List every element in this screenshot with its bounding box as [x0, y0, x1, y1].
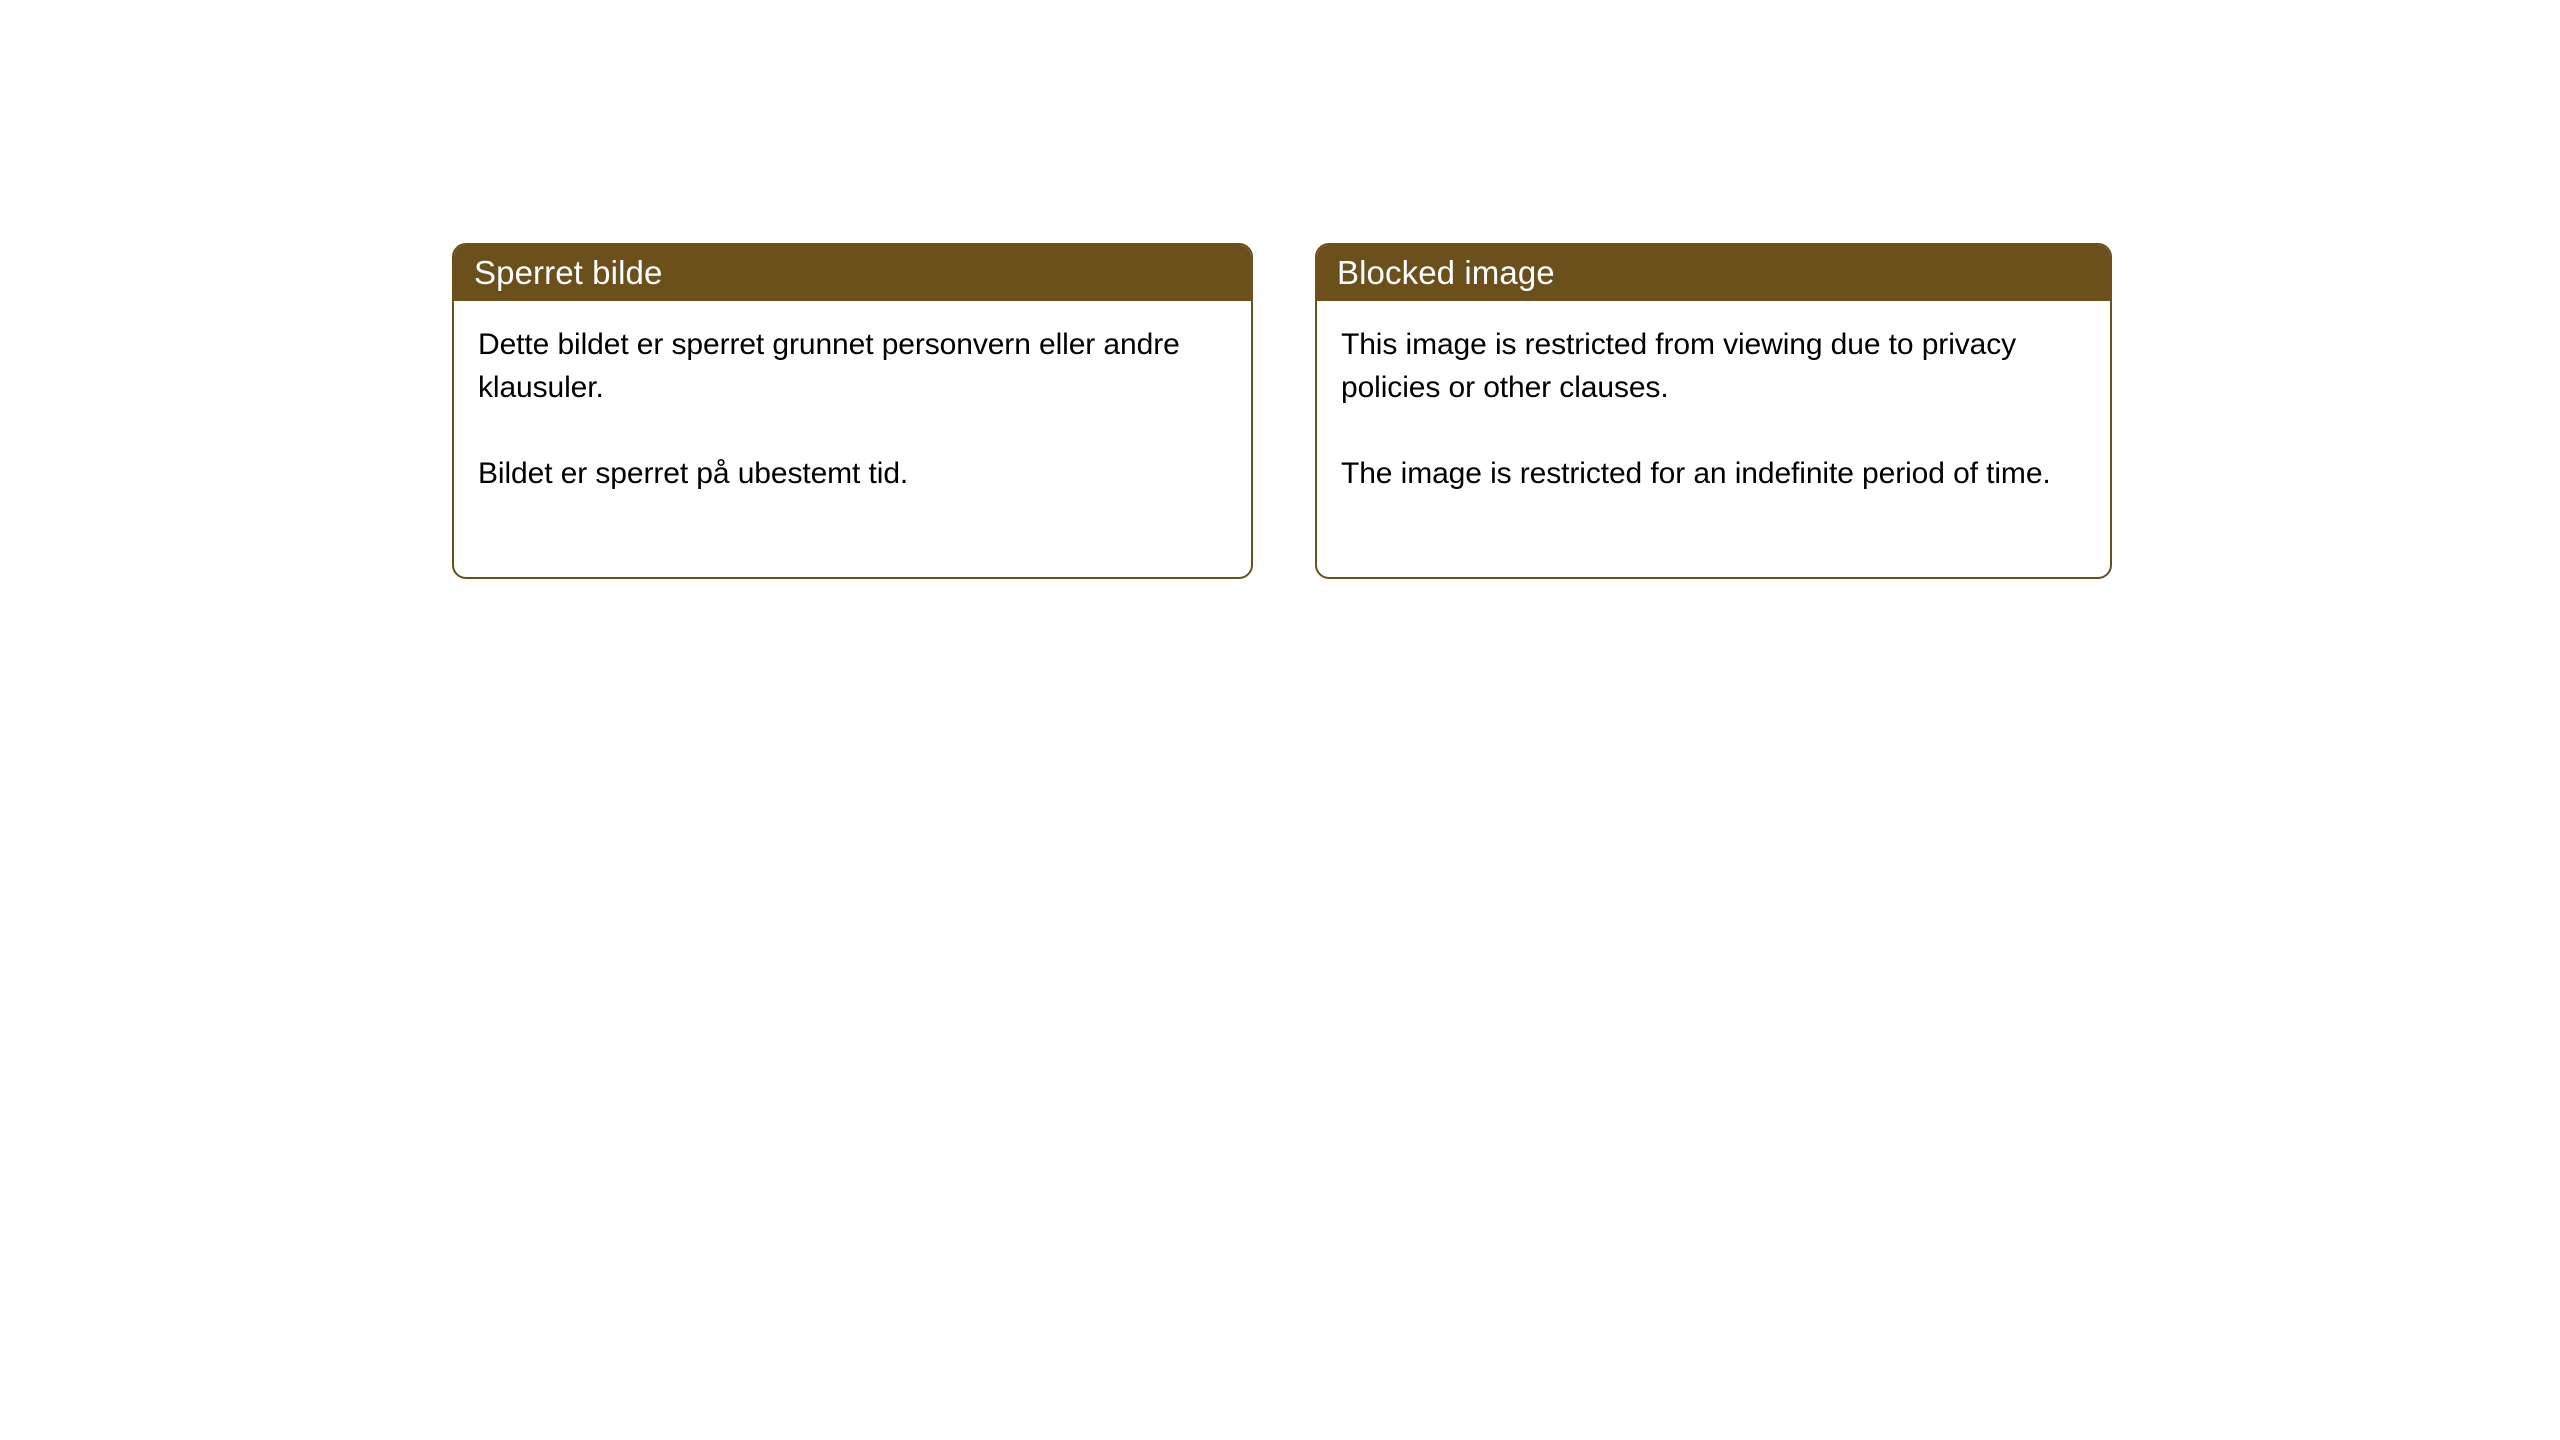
panel-paragraph: Bildet er sperret på ubestemt tid. — [478, 452, 1225, 495]
page-canvas: Sperret bilde Dette bildet er sperret gr… — [0, 0, 2560, 1440]
panel-paragraph: This image is restricted from viewing du… — [1341, 323, 2084, 409]
panel-paragraph: The image is restricted for an indefinit… — [1341, 452, 2084, 495]
panel-header-en: Blocked image — [1315, 243, 2112, 301]
blocked-image-notice-en: Blocked image This image is restricted f… — [1315, 243, 2112, 579]
blocked-image-notice-no: Sperret bilde Dette bildet er sperret gr… — [452, 243, 1253, 579]
panel-body-en: This image is restricted from viewing du… — [1317, 301, 2110, 495]
panel-title-no: Sperret bilde — [474, 256, 662, 289]
panel-title-en: Blocked image — [1337, 256, 1555, 289]
panel-body-no: Dette bildet er sperret grunnet personve… — [454, 301, 1251, 495]
panel-paragraph: Dette bildet er sperret grunnet personve… — [478, 323, 1225, 409]
panel-header-no: Sperret bilde — [452, 243, 1253, 301]
